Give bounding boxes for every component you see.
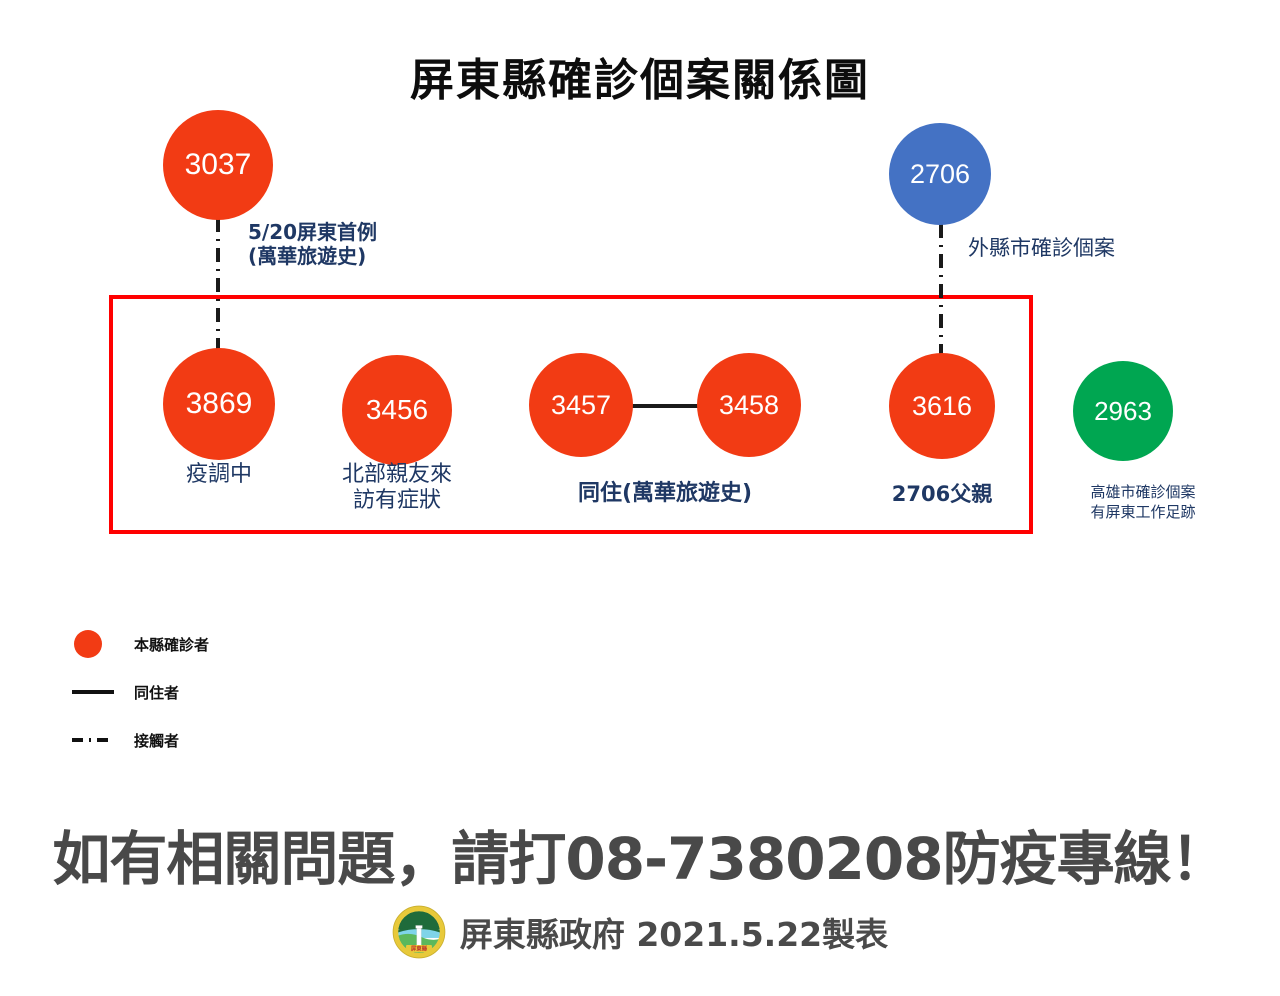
node-3457-label: 3457 (551, 392, 611, 419)
node-3458-label: 3458 (719, 392, 779, 419)
dash-dot-line-icon (70, 734, 128, 746)
legend-item-cohabitant: 同住者 (70, 668, 370, 716)
solid-line-icon (70, 686, 128, 698)
node-3037-caption: 5/20屏東首例 (萬華旅遊史) (248, 221, 478, 268)
legend-item-contact: 接觸者 (70, 716, 370, 764)
node-2706-caption: 外縣市確診個案 (968, 236, 1198, 261)
hotline-banner: 如有相關問題，請打08-7380208防疫專線！ (0, 812, 1280, 896)
node-2706-label: 2706 (910, 161, 970, 188)
legend-item-contact-label: 接觸者 (134, 730, 179, 751)
node-2963-caption: 高雄市確診個案 有屏東工作足跡 (1063, 483, 1223, 522)
node-3037-label: 3037 (185, 150, 252, 180)
legend-item-case: 本縣確診者 (70, 620, 370, 668)
node-3456-caption: 北部親友來 訪有症狀 (307, 462, 487, 514)
infographic-canvas: 屏東縣確診個案關係圖 3037 5/20屏東首例 (萬華旅遊史) 2706 外縣… (0, 0, 1280, 996)
legend: 本縣確診者 同住者 接觸者 (70, 620, 370, 764)
red-circle-icon (70, 630, 128, 658)
node-2963[interactable]: 2963 (1073, 361, 1173, 461)
node-3616-label: 3616 (912, 393, 972, 420)
credit-text: 屏東縣政府 2021.5.22製表 (460, 908, 888, 956)
node-3456-label: 3456 (366, 396, 428, 424)
pair-3457-3458-caption: 同住(萬華旅遊史) (525, 481, 805, 507)
node-2963-label: 2963 (1094, 398, 1152, 424)
legend-item-case-label: 本縣確診者 (134, 634, 209, 655)
node-3458[interactable]: 3458 (697, 353, 801, 457)
node-3616-caption: 2706父親 (862, 482, 1022, 507)
legend-item-cohabitant-label: 同住者 (134, 682, 179, 703)
node-3869[interactable]: 3869 (163, 348, 275, 460)
node-3616[interactable]: 3616 (889, 353, 995, 459)
node-2706[interactable]: 2706 (889, 123, 991, 225)
pingtung-county-logo-icon: 屏東縣 (392, 905, 446, 959)
node-3869-caption: 疫調中 (129, 462, 309, 488)
node-3456[interactable]: 3456 (342, 355, 452, 465)
node-3037[interactable]: 3037 (163, 110, 273, 220)
credit-line: 屏東縣 屏東縣政府 2021.5.22製表 (0, 905, 1280, 959)
node-3457[interactable]: 3457 (529, 353, 633, 457)
node-3869-label: 3869 (186, 389, 253, 419)
